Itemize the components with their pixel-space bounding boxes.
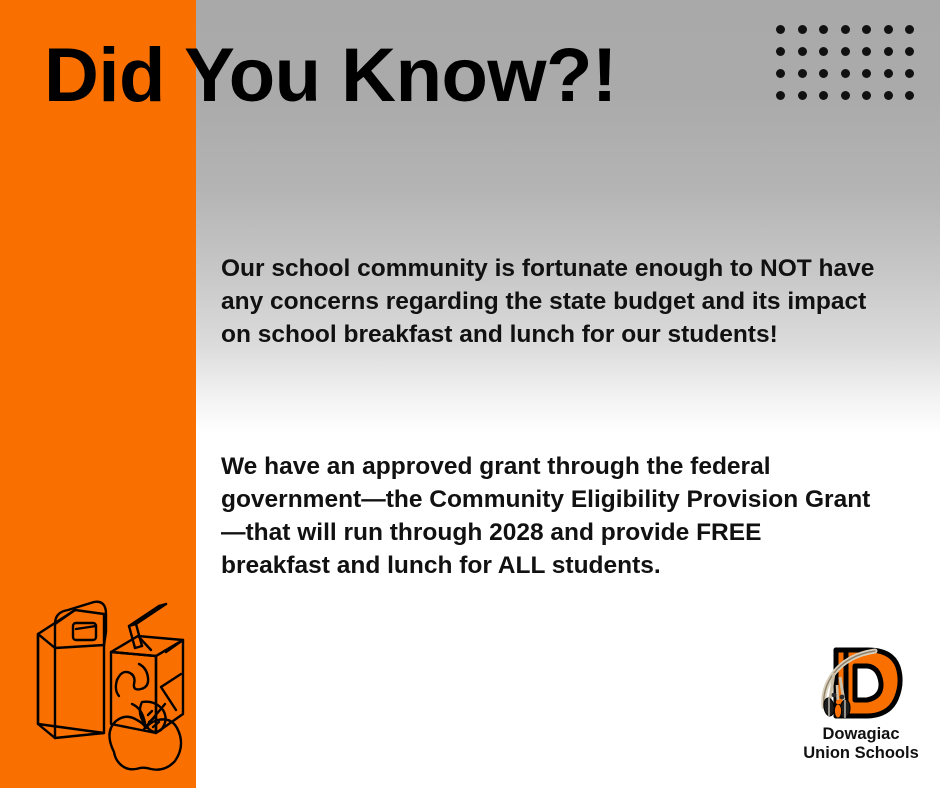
page-title: Did You Know?! — [44, 36, 617, 116]
grid-dot — [862, 69, 871, 78]
grid-dot — [776, 25, 785, 34]
grid-dot — [905, 25, 914, 34]
grid-dot — [884, 25, 893, 34]
grid-dot — [798, 47, 807, 56]
grid-dot — [819, 69, 828, 78]
grid-dot — [819, 91, 828, 100]
grid-dot — [776, 91, 785, 100]
grid-dot — [841, 25, 850, 34]
grid-dot — [884, 91, 893, 100]
grid-dot — [841, 91, 850, 100]
dot-grid-decoration — [776, 25, 916, 101]
grid-dot — [776, 47, 785, 56]
grid-dot — [841, 47, 850, 56]
grid-dot — [905, 91, 914, 100]
did-you-know-poster: Did You Know?! Our school community is f… — [0, 0, 940, 788]
grid-dot — [819, 25, 828, 34]
grid-dot — [819, 47, 828, 56]
grid-dot — [862, 47, 871, 56]
logo-name-line-1: Dowagiac — [788, 725, 934, 744]
dowagiac-d-logo-icon — [788, 645, 934, 723]
lunch-bag-front-icon — [38, 610, 104, 733]
grid-dot — [841, 69, 850, 78]
grid-dot — [862, 25, 871, 34]
grid-dot — [798, 25, 807, 34]
logo-name-line-2: Union Schools — [788, 744, 934, 763]
district-logo: Dowagiac Union Schools — [788, 645, 934, 763]
grid-dot — [884, 47, 893, 56]
grid-dot — [798, 69, 807, 78]
school-lunch-illustration — [18, 592, 203, 772]
body-paragraph-grant: We have an approved grant through the fe… — [221, 450, 871, 582]
grid-dot — [905, 69, 914, 78]
body-paragraph-budget: Our school community is fortunate enough… — [221, 252, 876, 351]
grid-dot — [798, 91, 807, 100]
grid-dot — [862, 91, 871, 100]
grid-dot — [905, 47, 914, 56]
grid-dot — [776, 69, 785, 78]
grid-dot — [884, 69, 893, 78]
